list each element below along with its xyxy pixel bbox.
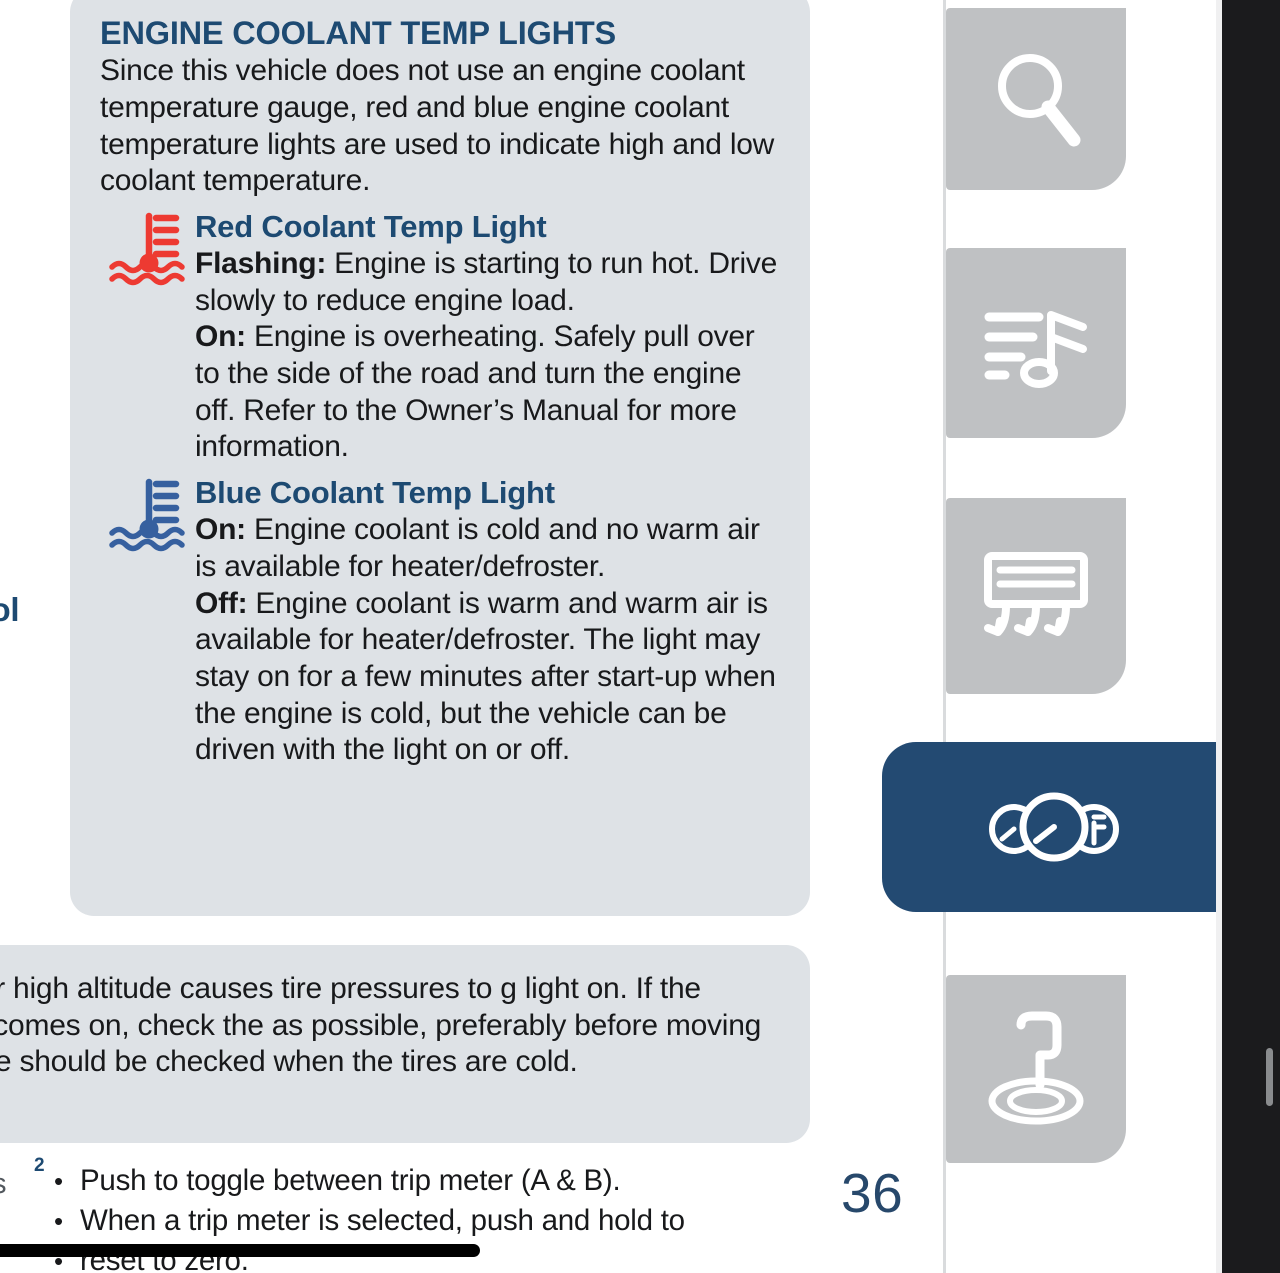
blue-coolant-on-item: On: Engine coolant is cold and no warm a… [195, 512, 780, 585]
tab-audio[interactable] [946, 248, 1126, 438]
red-coolant-flashing-item: Flashing: Engine is starting to run hot.… [195, 246, 780, 319]
music-note-list-icon [981, 293, 1091, 393]
page-number: 36 [841, 1166, 903, 1221]
red-coolant-on-item: On: Engine is overheating. Safely pull o… [195, 319, 780, 466]
tab-shifter[interactable] [946, 975, 1126, 1163]
quick-reference-guide-page: ENGINE COOLANT TEMP LIGHTS Since this ve… [0, 0, 1280, 1273]
tab-search[interactable] [946, 8, 1126, 190]
card-title: ENGINE COOLANT TEMP LIGHTS [100, 16, 780, 51]
tab-gauges[interactable] [882, 742, 1226, 912]
black-underline-bar [0, 1244, 480, 1257]
instrument-gauges-icon [984, 787, 1124, 867]
tire-pressure-text: erature and/or high altitude causes tire… [0, 971, 780, 1081]
red-coolant-section: Red Coolant Temp Light Flashing: Engine … [100, 208, 780, 466]
tire-pressure-card: erature and/or high altitude causes tire… [0, 945, 810, 1143]
blue-thermometer-coolant-icon [106, 476, 192, 554]
gear-shifter-icon [981, 1009, 1091, 1129]
tab-climate[interactable] [946, 498, 1126, 694]
scrollbar-thumb[interactable] [1266, 1048, 1273, 1106]
magnifier-icon [986, 44, 1086, 154]
footnote-superscript: 2 [34, 1155, 45, 1177]
cutoff-glyph-fragment: s [0, 1168, 7, 1201]
blue-coolant-off-item: Off: Engine coolant is warm and warm air… [195, 586, 780, 770]
defroster-vents-icon [976, 546, 1096, 646]
blue-coolant-section: Blue Coolant Temp Light On: Engine coola… [100, 474, 780, 769]
cutoff-heading-fragment: rol [0, 591, 19, 629]
content-column: ENGINE COOLANT TEMP LIGHTS Since this ve… [0, 0, 940, 1273]
list-item: When a trip meter is selected, push and … [52, 1201, 792, 1241]
blue-on-text: Engine coolant is cold and no warm air i… [195, 513, 760, 583]
red-on-label: On: [195, 320, 246, 353]
blue-off-text: Engine coolant is warm and warm air is a… [195, 587, 776, 767]
list-item: Push to toggle between trip meter (A & B… [52, 1161, 792, 1201]
engine-coolant-card: ENGINE COOLANT TEMP LIGHTS Since this ve… [70, 0, 810, 916]
red-on-text: Engine is overheating. Safely pull over … [195, 320, 755, 463]
blue-coolant-heading: Blue Coolant Temp Light [195, 474, 780, 512]
red-flashing-label: Flashing: [195, 247, 326, 280]
card-intro-text: Since this vehicle does not use an engin… [100, 53, 780, 200]
red-thermometer-coolant-icon [106, 210, 192, 288]
blue-on-label: On: [195, 513, 246, 546]
red-coolant-heading: Red Coolant Temp Light [195, 208, 780, 246]
blue-off-label: Off: [195, 587, 247, 620]
